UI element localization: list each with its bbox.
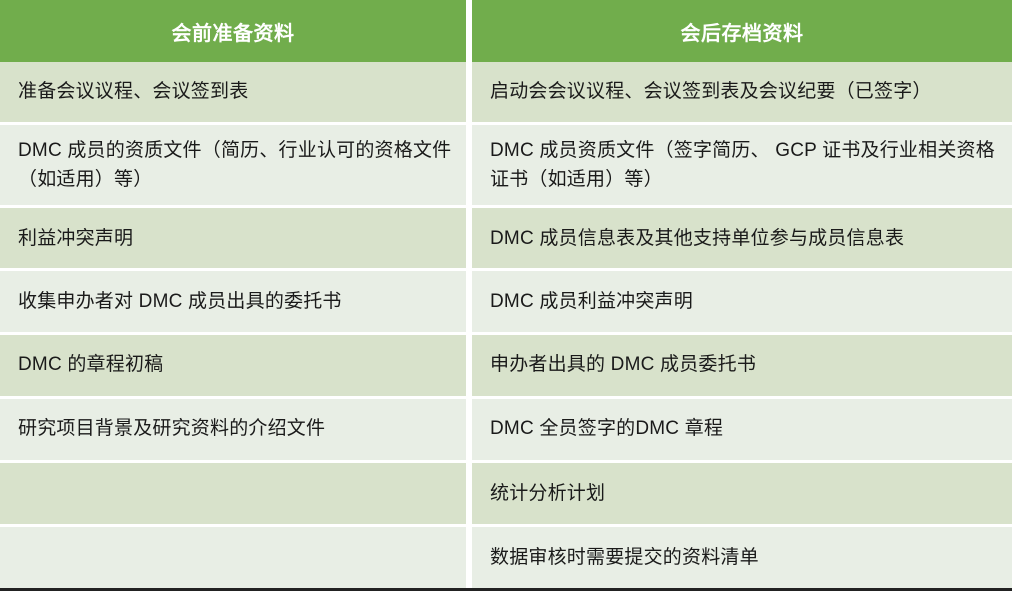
cell-pre-meeting: 研究项目背景及研究资料的介绍文件	[0, 399, 466, 463]
table-row: DMC 的章程初稿 申办者出具的 DMC 成员委托书	[0, 335, 1012, 399]
cell-pre-meeting: DMC 的章程初稿	[0, 335, 466, 399]
cell-pre-meeting	[0, 527, 466, 591]
table-row: DMC 成员的资质文件（简历、行业认可的资格文件（如适用）等） DMC 成员资质…	[0, 125, 1012, 208]
cell-pre-meeting: DMC 成员的资质文件（简历、行业认可的资格文件（如适用）等）	[0, 125, 466, 208]
cell-post-meeting: DMC 成员资质文件（签字简历、 GCP 证书及行业相关资格证书（如适用）等）	[472, 125, 1012, 208]
header-row: 会前准备资料 会后存档资料	[0, 0, 1012, 62]
cell-pre-meeting: 准备会议议程、会议签到表	[0, 62, 466, 125]
documents-comparison-table: 会前准备资料 会后存档资料 准备会议议程、会议签到表 启动会会议议程、会议签到表…	[0, 0, 1012, 591]
table-row: 统计分析计划	[0, 463, 1012, 527]
cell-post-meeting: DMC 成员信息表及其他支持单位参与成员信息表	[472, 208, 1012, 271]
cell-pre-meeting	[0, 463, 466, 527]
cell-post-meeting: 数据审核时需要提交的资料清单	[472, 527, 1012, 591]
table-header: 会前准备资料 会后存档资料	[0, 0, 1012, 62]
table-row: 利益冲突声明 DMC 成员信息表及其他支持单位参与成员信息表	[0, 208, 1012, 271]
table-row: 收集申办者对 DMC 成员出具的委托书 DMC 成员利益冲突声明	[0, 271, 1012, 334]
column-header-pre-meeting: 会前准备资料	[0, 0, 466, 62]
table-row: 数据审核时需要提交的资料清单	[0, 527, 1012, 591]
cell-pre-meeting: 收集申办者对 DMC 成员出具的委托书	[0, 271, 466, 334]
cell-pre-meeting: 利益冲突声明	[0, 208, 466, 271]
cell-post-meeting: 启动会会议议程、会议签到表及会议纪要（已签字）	[472, 62, 1012, 125]
table-body: 准备会议议程、会议签到表 启动会会议议程、会议签到表及会议纪要（已签字） DMC…	[0, 62, 1012, 591]
cell-post-meeting: 统计分析计划	[472, 463, 1012, 527]
table-row: 准备会议议程、会议签到表 启动会会议议程、会议签到表及会议纪要（已签字）	[0, 62, 1012, 125]
cell-post-meeting: DMC 全员签字的DMC 章程	[472, 399, 1012, 463]
cell-post-meeting: DMC 成员利益冲突声明	[472, 271, 1012, 334]
table-row: 研究项目背景及研究资料的介绍文件 DMC 全员签字的DMC 章程	[0, 399, 1012, 463]
column-header-post-meeting: 会后存档资料	[472, 0, 1012, 62]
cell-post-meeting: 申办者出具的 DMC 成员委托书	[472, 335, 1012, 399]
